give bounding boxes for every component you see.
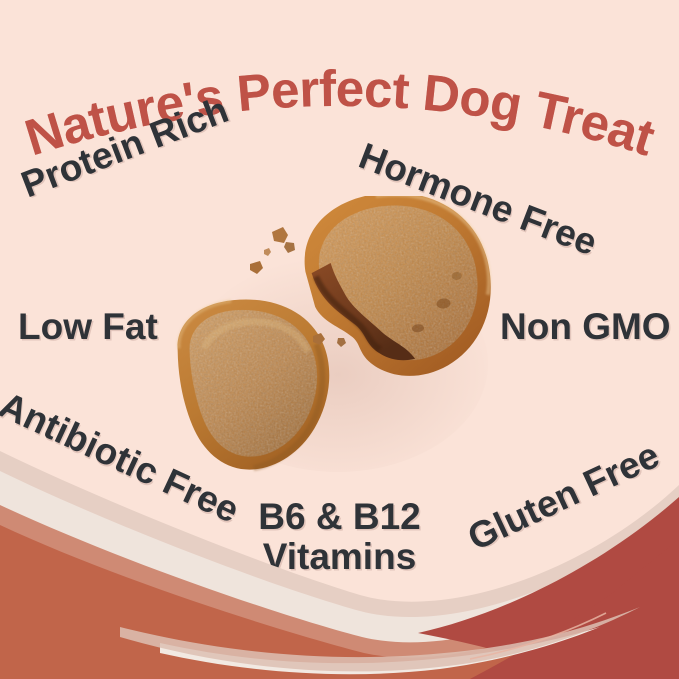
benefit-label-vitamins-line1: B6 & B12 [0,497,679,537]
product-benefits-poster: Nature's Perfect Dog Treat Nature's Perf… [0,0,679,679]
benefit-label-non-gmo: Non GMO [500,307,671,347]
benefit-label-low-fat: Low Fat [18,307,158,347]
wave-blush-sliver [120,607,640,671]
benefit-label-vitamins: B6 & B12 Vitamins [0,497,679,577]
dog-treat-image [168,196,498,476]
benefit-label-vitamins-line2: Vitamins [0,537,679,577]
wave-cream-sliver [160,627,600,674]
wave-accent-line [470,613,606,659]
